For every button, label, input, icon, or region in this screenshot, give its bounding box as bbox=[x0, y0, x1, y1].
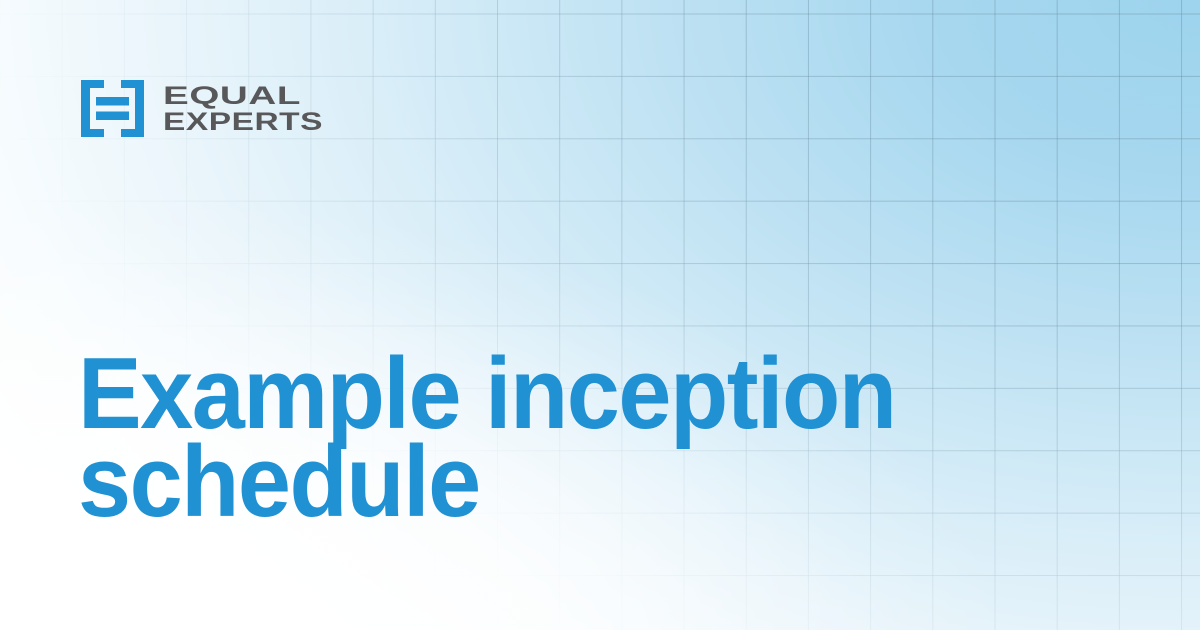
brand-wordmark: EQUAL EXPERTS bbox=[163, 83, 325, 135]
social-card: EQUAL EXPERTS Example inception schedule bbox=[0, 0, 1200, 630]
page-title: Example inception schedule bbox=[78, 350, 1023, 526]
brand-wordmark-line1: EQUAL bbox=[163, 83, 301, 110]
brand-wordmark-line2: EXPERTS bbox=[163, 108, 323, 135]
equal-experts-bracket-mark-icon bbox=[81, 80, 144, 137]
brand-logo: EQUAL EXPERTS bbox=[81, 80, 325, 137]
